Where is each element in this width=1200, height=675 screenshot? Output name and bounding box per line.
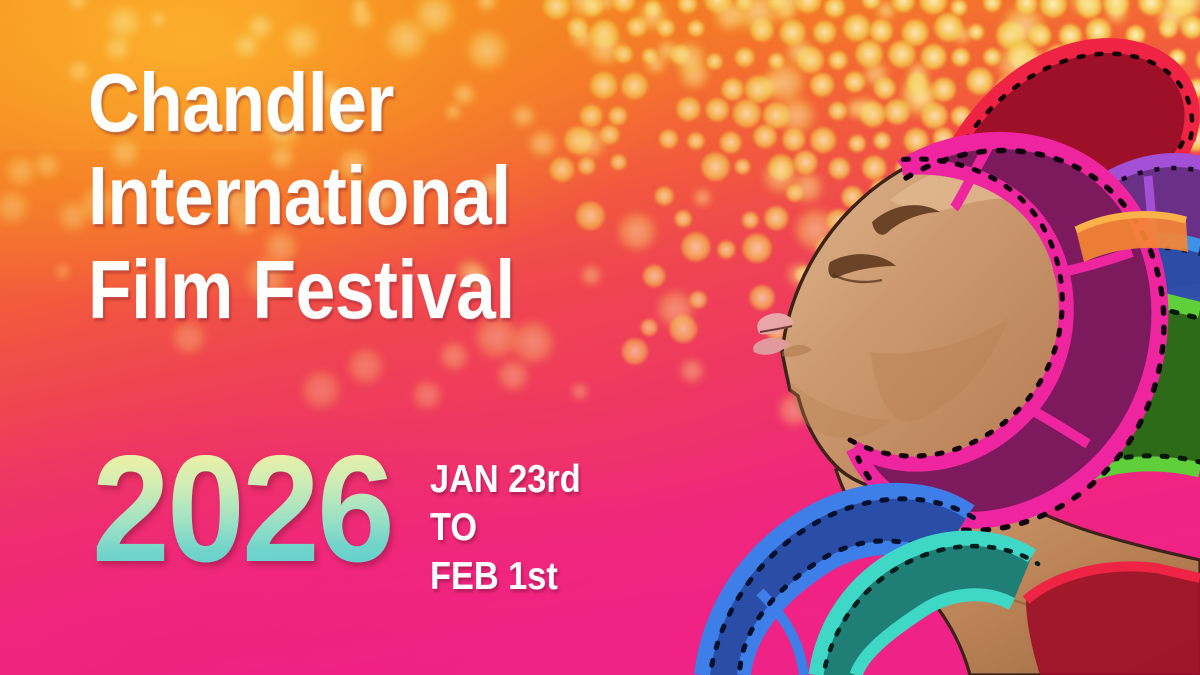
film-strip-orange: [1076, 215, 1188, 262]
film-strip-crimson: [934, 46, 1192, 352]
headline-line-2: International: [88, 155, 604, 236]
date-end: FEB 1st: [430, 553, 581, 601]
year-and-dates-block: 2026 JAN 23rd TO FEB 1st: [92, 440, 601, 601]
film-strip-crimson-bottom: [1026, 566, 1200, 675]
date-start: JAN 23rd: [430, 456, 581, 504]
festival-poster: Chandler International Film Festival 202…: [0, 0, 1200, 675]
film-strip-green: [937, 298, 1200, 566]
upper-lip: [757, 313, 794, 334]
film-strip-purple: [1079, 160, 1200, 336]
film-strip-blue: [1009, 238, 1200, 438]
woman-head-profile: [753, 145, 1200, 675]
film-strip-magenta: [850, 140, 1164, 530]
headline-block: Chandler International Film Festival: [88, 62, 688, 342]
headline-line-3: Film Festival: [88, 249, 604, 330]
headline-line-1: Chandler: [88, 62, 604, 143]
woman-with-film-reels-illustration: [640, 0, 1200, 675]
lower-lip: [753, 338, 790, 355]
eyebrow: [872, 205, 940, 235]
festival-year: 2026: [92, 440, 392, 580]
festival-dates: JAN 23rd TO FEB 1st: [430, 456, 601, 601]
film-strip-olive: [992, 349, 1164, 438]
date-connector: TO: [430, 504, 581, 552]
film-strip-blue-front: [702, 491, 977, 675]
film-strip-teal: [816, 538, 1038, 675]
closed-eye: [828, 254, 896, 278]
